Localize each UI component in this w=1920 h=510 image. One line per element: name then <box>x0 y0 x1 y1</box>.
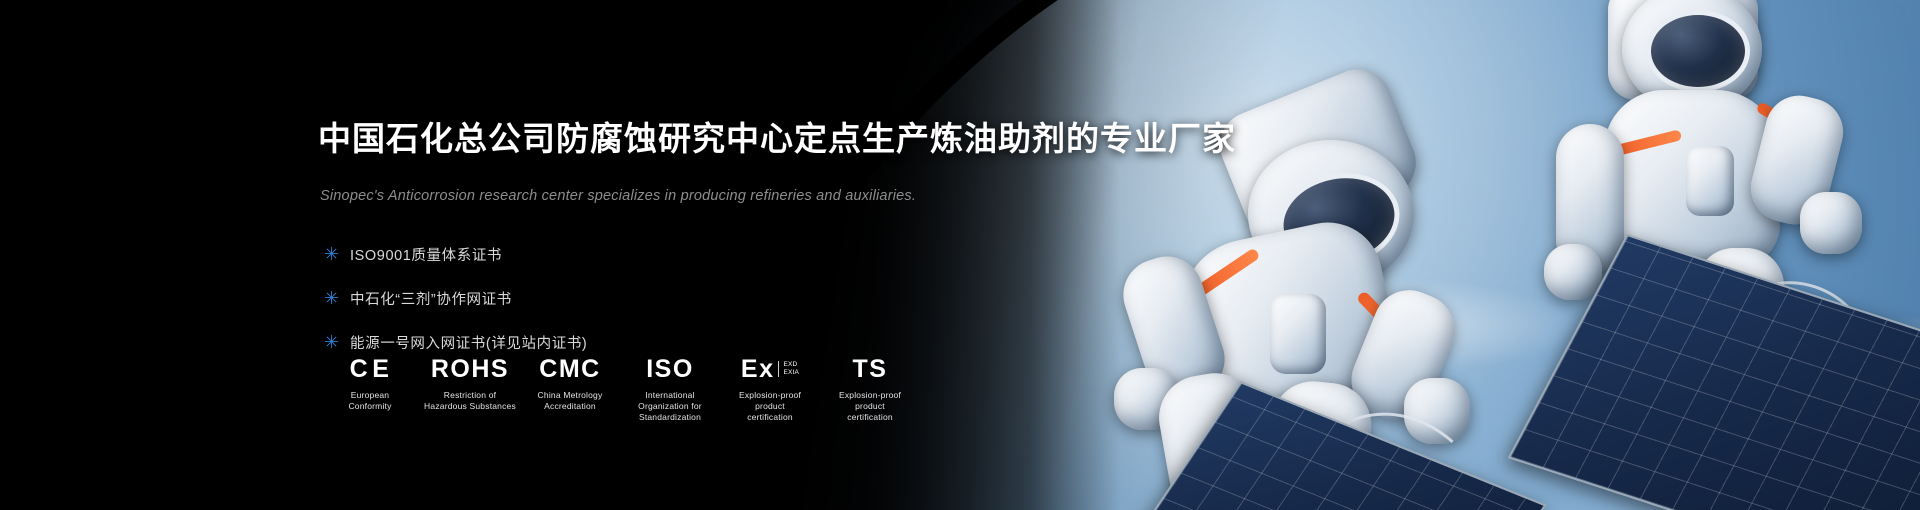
cert-badge-caption: Restriction of Hazardous Substances <box>420 390 520 412</box>
asterisk-icon: ✳ <box>324 289 350 307</box>
iso-mark-icon: ISO <box>620 352 720 386</box>
cert-badge-ce: CE European Conformity <box>320 352 420 412</box>
asterisk-icon: ✳ <box>324 333 350 351</box>
list-item-label: ISO9001质量体系证书 <box>350 244 502 265</box>
banner-title: 中国石化总公司防腐蚀研究中心定点生产炼油助剂的专业厂家 <box>318 112 1236 160</box>
list-item: ✳ ISO9001质量体系证书 <box>324 240 587 268</box>
ts-mark-icon: TS <box>820 352 920 386</box>
ex-side-bottom: EXIA <box>783 369 799 376</box>
cert-badge-caption: European Conformity <box>320 390 420 412</box>
cert-badge-ex: Ex EXD EXIA Explosion-proof product cert… <box>720 352 820 423</box>
cert-badge-cmc: CMC China Metrology Accreditation <box>520 352 620 412</box>
list-item-label: 能源一号网入网证书(详见站内证书) <box>350 332 587 353</box>
list-item-label: 中石化“三剂”协作网证书 <box>350 288 512 309</box>
helmet-visor-icon <box>1646 10 1750 92</box>
cert-badge-ts: TS Explosion-proof product certification <box>820 352 920 423</box>
asterisk-icon: ✳ <box>324 245 350 263</box>
cert-badge-caption: International Organization for Standardi… <box>620 390 720 423</box>
list-item: ✳ 中石化“三剂”协作网证书 <box>324 284 587 312</box>
banner-content: 中国石化总公司防腐蚀研究中心定点生产炼油助剂的专业厂家 Sinopec's An… <box>318 0 1098 510</box>
ex-mark-icon: Ex EXD EXIA <box>720 352 820 386</box>
cert-badge-caption: Explosion-proof product certification <box>720 390 820 423</box>
banner-subtitle: Sinopec's Anticorrosion research center … <box>320 188 916 204</box>
rohs-mark-icon: ROHS <box>420 352 520 386</box>
ce-mark-icon: CE <box>320 352 420 386</box>
cert-badge-rohs: ROHS Restriction of Hazardous Substances <box>420 352 520 412</box>
hero-banner: 中国石化总公司防腐蚀研究中心定点生产炼油助剂的专业厂家 Sinopec's An… <box>0 0 1920 510</box>
cert-badge-caption: China Metrology Accreditation <box>520 390 620 412</box>
ex-side-top: EXD <box>783 361 797 368</box>
cert-badge-iso: ISO International Organization for Stand… <box>620 352 720 423</box>
cert-badge-caption: Explosion-proof product certification <box>820 390 920 423</box>
cmc-mark-icon: CMC <box>520 352 620 386</box>
certification-badges: CE European Conformity ROHS Restriction … <box>320 352 920 423</box>
